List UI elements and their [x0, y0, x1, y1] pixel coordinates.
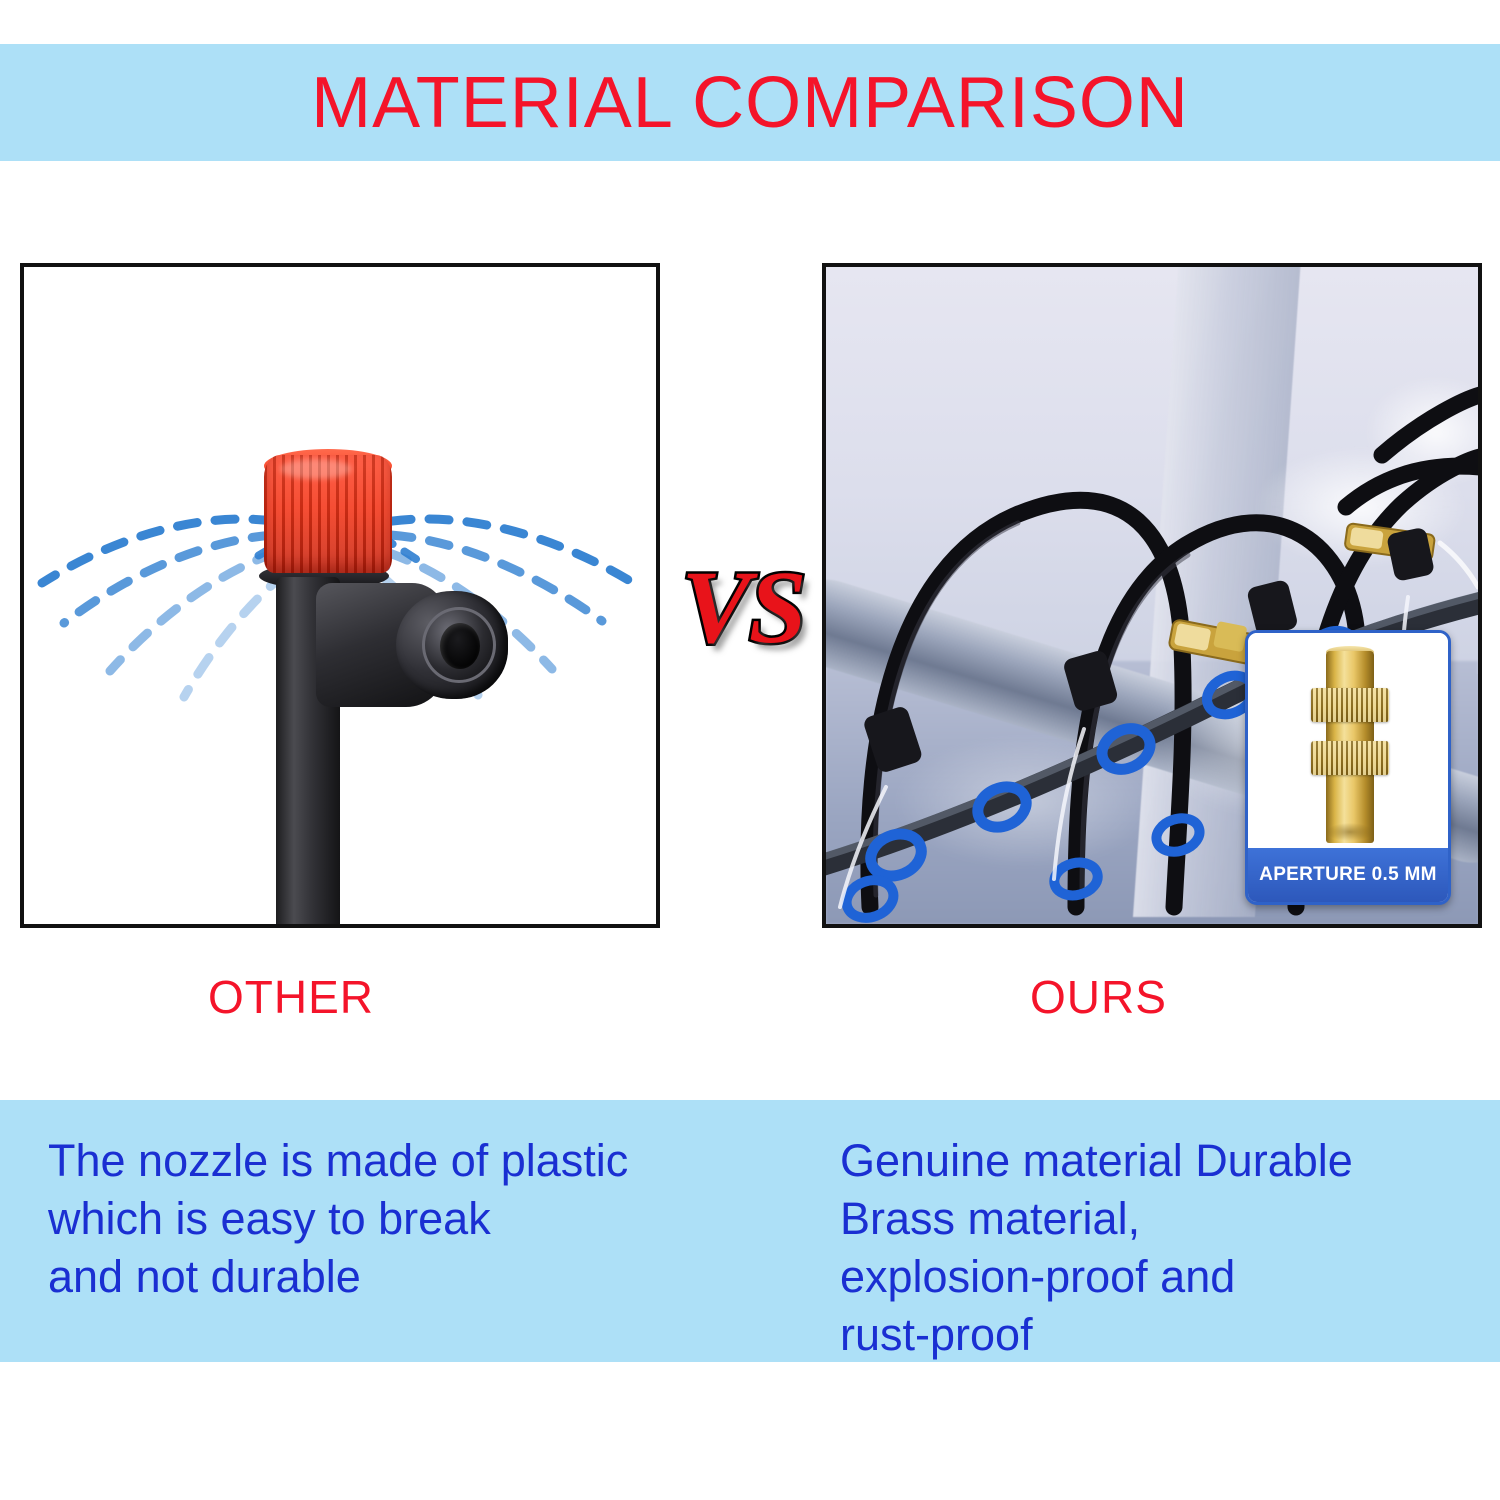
- left-product-panel: [20, 263, 660, 928]
- nozzle-detail-inset: APERTURE 0.5 MM: [1245, 630, 1451, 905]
- brass-nozzle-photo: [1248, 633, 1448, 851]
- left-panel-caption: The nozzle is made of plastic which is e…: [48, 1132, 748, 1306]
- aperture-badge: APERTURE 0.5 MM: [1248, 848, 1448, 902]
- material-comparison-infographic: MATERIAL COMPARISON: [0, 0, 1500, 1500]
- nozzle-knurled-ring-upper: [1311, 688, 1389, 722]
- plastic-sprinkler-illustration: [24, 267, 656, 924]
- right-panel-caption: Genuine material Durable Brass material,…: [840, 1132, 1480, 1364]
- nozzle-base-shadow: [1326, 823, 1374, 841]
- page-title: MATERIAL COMPARISON: [0, 44, 1500, 161]
- versus-badge: VS: [668, 556, 818, 660]
- connector-port-hole: [440, 623, 480, 669]
- nozzle-knurled-ring-lower: [1311, 741, 1389, 775]
- cap-highlight: [280, 459, 352, 479]
- left-panel-label: OTHER: [208, 970, 374, 1024]
- right-panel-label: OURS: [1030, 970, 1167, 1024]
